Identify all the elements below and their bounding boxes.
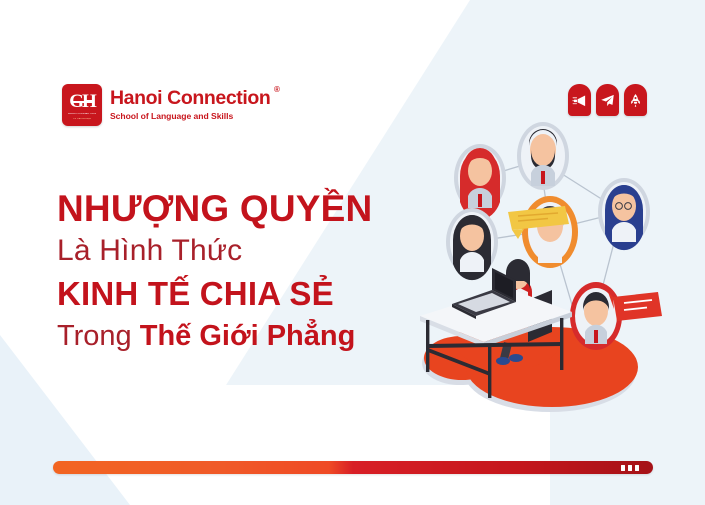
avatar-blue-hair [598, 178, 650, 250]
logo-tagline: School of Language and Skills [110, 112, 270, 121]
bottom-progress-bar [53, 461, 653, 474]
avatar-red-hair [454, 144, 506, 220]
registered-trademark-icon: ® [274, 86, 280, 94]
paper-plane-icon [600, 93, 615, 108]
badge-icon-group [568, 84, 647, 116]
bar-tick-2 [628, 465, 632, 471]
logo-micro-line-2: Tư Vấn Du Học [64, 118, 100, 121]
avatar-dark-hair-woman [446, 208, 498, 280]
badge-megaphone[interactable] [568, 84, 591, 116]
logo-wordmark: Hanoi Connection ® School of Language an… [110, 89, 270, 120]
logo-brand-name: Hanoi Connection ® [110, 89, 270, 109]
avatar-red-ring-man [570, 282, 622, 350]
logo-monogram-rule [71, 101, 93, 103]
rocket-icon [628, 93, 643, 108]
headline-line-4-strong: Thế Giới Phẳng [140, 320, 356, 352]
badge-rocket[interactable] [624, 84, 647, 116]
network-collaboration-illustration [400, 120, 700, 420]
bar-tick-1 [621, 465, 625, 471]
slide-canvas: GH HANOI CONNECTION Tư Vấn Du Học Hanoi … [0, 0, 705, 505]
avatar-bearded-man [517, 122, 569, 190]
megaphone-icon [572, 93, 587, 108]
avatar-orange-ring [522, 196, 578, 268]
logo-mark-gh: GH HANOI CONNECTION Tư Vấn Du Học [62, 84, 102, 126]
badge-paper-plane[interactable] [596, 84, 619, 116]
brand-logo[interactable]: GH HANOI CONNECTION Tư Vấn Du Học Hanoi … [62, 84, 270, 126]
logo-brand-name-text: Hanoi Connection [110, 87, 270, 109]
bar-tick-3 [635, 465, 639, 471]
logo-micro-line-1: HANOI CONNECTION [64, 113, 100, 116]
bar-tick-marks [621, 465, 639, 471]
headline-line-4-prefix: Trong [57, 320, 140, 352]
